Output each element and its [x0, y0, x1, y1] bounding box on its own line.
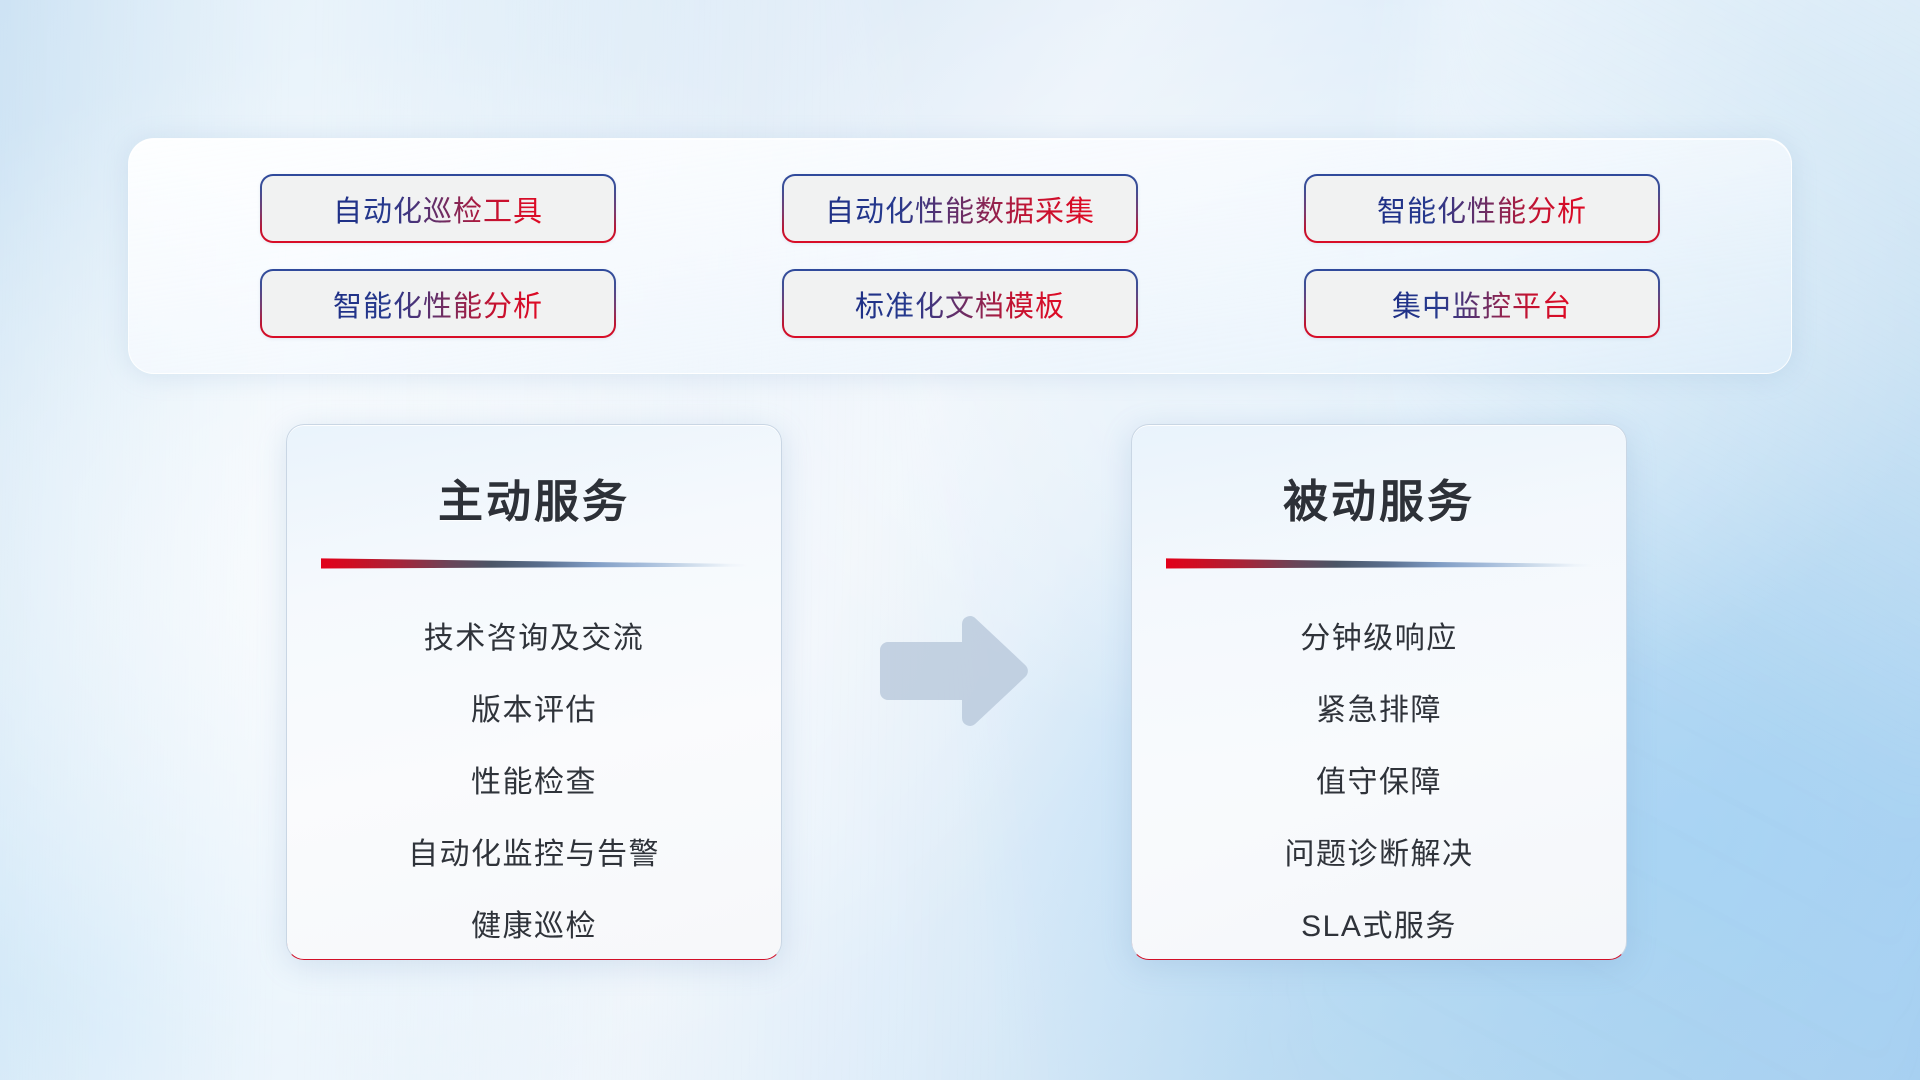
capability-tag-3[interactable]: 智能化性能分析 — [1304, 174, 1660, 243]
capability-tag-2[interactable]: 自动化性能数据采集 — [782, 174, 1138, 243]
capability-tag-label: 智能化性能分析 — [1377, 188, 1587, 230]
list-item: 分钟级响应 — [1300, 603, 1458, 675]
capability-tag-label: 自动化巡检工具 — [333, 188, 543, 230]
list-item: 自动化监控与告警 — [408, 819, 660, 891]
service-card-proactive: 主动服务 技术咨询及交流 版本评估 性能检查 自动化监控与告警 健康巡检 — [286, 424, 782, 960]
list-item: 紧急排障 — [1316, 675, 1442, 747]
capability-tag-5[interactable]: 标准化文档模板 — [782, 269, 1138, 338]
list-item: 问题诊断解决 — [1285, 819, 1474, 891]
capability-tag-4[interactable]: 智能化性能分析 — [260, 269, 616, 338]
list-item: 性能检查 — [471, 747, 597, 819]
service-item-list: 分钟级响应 紧急排障 值守保障 问题诊断解决 SLA式服务 — [1132, 603, 1626, 960]
list-item: 技术咨询及交流 — [424, 603, 645, 675]
capability-grid: 自动化巡检工具 自动化性能数据采集 智能化性能分析 智能化性能分析 标准化文档模… — [129, 139, 1791, 373]
capability-tag-label: 标准化文档模板 — [855, 283, 1065, 325]
service-card-reactive: 被动服务 分钟级响应 紧急排障 值守保障 问题诊断解决 SLA式服务 — [1131, 424, 1627, 960]
arrow-right-icon — [872, 616, 1032, 726]
capability-tag-1[interactable]: 自动化巡检工具 — [260, 174, 616, 243]
card-title: 主动服务 — [287, 465, 781, 530]
title-divider — [321, 556, 747, 569]
list-item: 版本评估 — [471, 675, 597, 747]
capability-tag-6[interactable]: 集中监控平台 — [1304, 269, 1660, 338]
list-item: 健康巡检 — [471, 891, 597, 960]
card-title: 被动服务 — [1132, 465, 1626, 530]
service-item-list: 技术咨询及交流 版本评估 性能检查 自动化监控与告警 健康巡检 — [287, 603, 781, 960]
capability-tag-label: 自动化性能数据采集 — [825, 188, 1095, 230]
diagram-stage: 自动化巡检工具 自动化性能数据采集 智能化性能分析 智能化性能分析 标准化文档模… — [0, 0, 1920, 1080]
capability-tag-label: 集中监控平台 — [1392, 283, 1572, 325]
capability-tag-label: 智能化性能分析 — [333, 283, 543, 325]
list-item: 值守保障 — [1316, 747, 1442, 819]
capability-panel: 自动化巡检工具 自动化性能数据采集 智能化性能分析 智能化性能分析 标准化文档模… — [128, 138, 1792, 374]
list-item: SLA式服务 — [1301, 891, 1457, 960]
title-divider — [1166, 556, 1592, 569]
